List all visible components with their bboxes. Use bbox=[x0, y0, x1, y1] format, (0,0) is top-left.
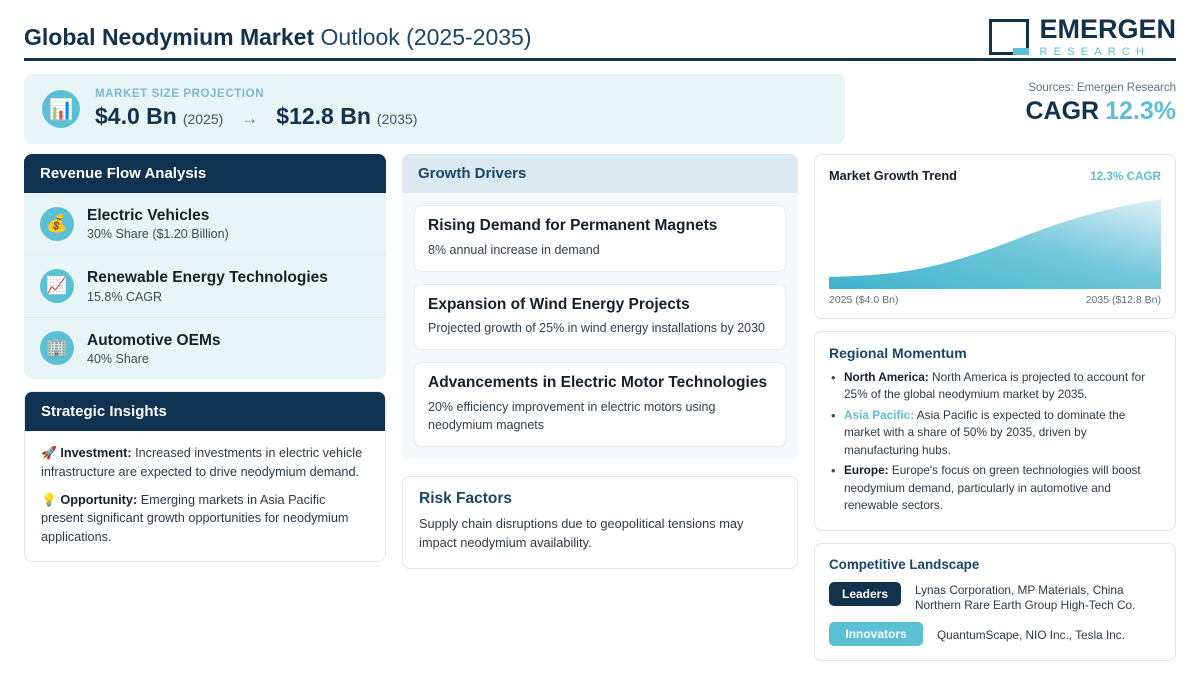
chart-title: Market Growth Trend bbox=[829, 168, 957, 183]
area-series-path bbox=[829, 199, 1161, 289]
growth-area-chart bbox=[829, 193, 1161, 289]
list-item-title: Renewable Energy Technologies bbox=[87, 268, 328, 287]
light-bulb-icon: 💡 bbox=[41, 493, 57, 507]
emergen-research-logo: EMERGEN RESEARCH bbox=[989, 16, 1176, 58]
market-growth-trend-card: Market Growth Trend 12.3% CAGR 202 bbox=[814, 154, 1176, 319]
list-item-title: Electric Vehicles bbox=[87, 206, 229, 225]
region-name: Asia Pacific: bbox=[844, 408, 914, 422]
list-item-meta: 40% Share bbox=[87, 352, 220, 366]
competitive-row-leaders: Leaders Lynas Corporation, MP Materials,… bbox=[829, 582, 1161, 614]
header-divider bbox=[24, 58, 1176, 61]
list-item-meta: 15.8% CAGR bbox=[87, 290, 328, 304]
strategic-insights-body: 🚀 Investment: Increased investments in e… bbox=[25, 431, 385, 561]
competitive-landscape-card: Competitive Landscape Leaders Lynas Corp… bbox=[814, 543, 1176, 662]
insight-investment: 🚀 Investment: Increased investments in e… bbox=[41, 444, 369, 481]
page-title-rest: Outlook (2025-2035) bbox=[314, 24, 531, 50]
insight-opportunity: 💡 Opportunity: Emerging markets in Asia … bbox=[41, 491, 369, 546]
market-size-end: $12.8 Bn bbox=[276, 103, 371, 130]
revenue-flow-panel: Revenue Flow Analysis 💰 Electric Vehicle… bbox=[24, 154, 386, 379]
region-name: North America: bbox=[844, 370, 929, 384]
list-item[interactable]: 🏢 Automotive OEMs 40% Share bbox=[24, 318, 386, 379]
growth-drivers-title: Growth Drivers bbox=[402, 154, 798, 193]
competitor-names: QuantumScape, NIO Inc., Tesla Inc. bbox=[937, 622, 1125, 643]
logo-square-icon bbox=[989, 19, 1029, 55]
insight-label: Opportunity: bbox=[60, 493, 137, 507]
cagr-value: 12.3% bbox=[1105, 97, 1176, 125]
cagr-label: CAGR bbox=[1026, 97, 1100, 125]
status-badge: Leaders bbox=[829, 582, 901, 606]
list-item: North America: North America is projecte… bbox=[829, 369, 1161, 404]
arrow-right-icon: → bbox=[241, 109, 258, 129]
chart-increasing-icon: 📈 bbox=[40, 269, 74, 303]
money-bag-icon: 💰 bbox=[40, 207, 74, 241]
list-item-body: Electric Vehicles 30% Share ($1.20 Billi… bbox=[87, 206, 229, 241]
driver-card-desc: Projected growth of 25% in wind energy i… bbox=[428, 319, 772, 337]
growth-drivers-panel: Growth Drivers Rising Demand for Permane… bbox=[402, 154, 798, 459]
risk-factors-panel: Risk Factors Supply chain disruptions du… bbox=[402, 476, 798, 569]
cagr-block: Sources: Emergen Research CAGR12.3% bbox=[846, 82, 1176, 126]
page-title: Global Neodymium Market Outlook (2025-20… bbox=[24, 24, 531, 51]
region-name: Europe: bbox=[844, 463, 889, 477]
right-column: Market Growth Trend 12.3% CAGR 202 bbox=[814, 154, 1176, 661]
list-item: Asia Pacific: Asia Pacific is expected t… bbox=[829, 407, 1161, 459]
driver-card-desc: 20% efficiency improvement in electric m… bbox=[428, 398, 772, 434]
market-size-start-year: (2025) bbox=[183, 111, 223, 127]
regional-momentum-card: Regional Momentum North America: North A… bbox=[814, 331, 1176, 531]
chart-annotation: 12.3% CAGR bbox=[1090, 170, 1161, 183]
chart-end-label: 2035 ($12.8 Bn) bbox=[1086, 294, 1161, 306]
revenue-flow-list: 💰 Electric Vehicles 30% Share ($1.20 Bil… bbox=[24, 193, 386, 379]
revenue-flow-title: Revenue Flow Analysis bbox=[24, 154, 386, 193]
page-header: Global Neodymium Market Outlook (2025-20… bbox=[24, 16, 1176, 58]
logo-subtitle: RESEARCH bbox=[1039, 47, 1176, 58]
market-size-start: $4.0 Bn bbox=[95, 103, 177, 130]
page-title-strong: Global Neodymium Market bbox=[24, 24, 314, 50]
list-item-title: Automotive OEMs bbox=[87, 331, 220, 350]
competitive-landscape-title: Competitive Landscape bbox=[829, 557, 1161, 572]
office-building-icon: 🏢 bbox=[40, 331, 74, 365]
infographic-page: Global Neodymium Market Outlook (2025-20… bbox=[0, 0, 1200, 700]
bar-chart-icon: 📊 bbox=[42, 90, 80, 128]
banner-label: MARKET SIZE PROJECTION bbox=[95, 88, 417, 100]
sources-note: Sources: Emergen Research bbox=[846, 82, 1176, 94]
risk-factors-desc: Supply chain disruptions due to geopolit… bbox=[419, 515, 781, 552]
driver-card-title: Advancements in Electric Motor Technolog… bbox=[428, 374, 772, 393]
list-item[interactable]: 📈 Renewable Energy Technologies 15.8% CA… bbox=[24, 255, 386, 317]
banner-copy: MARKET SIZE PROJECTION $4.0 Bn (2025) → … bbox=[95, 88, 417, 130]
list-item-body: Renewable Energy Technologies 15.8% CAGR bbox=[87, 268, 328, 303]
market-size-end-year: (2035) bbox=[377, 111, 417, 127]
area-chart-svg bbox=[829, 193, 1161, 289]
banner-figures: $4.0 Bn (2025) → $12.8 Bn (2035) bbox=[95, 103, 417, 130]
strategic-insights-panel: Strategic Insights 🚀 Investment: Increas… bbox=[24, 391, 386, 562]
status-badge: Innovators bbox=[829, 622, 923, 646]
regional-momentum-list: North America: North America is projecte… bbox=[829, 369, 1161, 515]
driver-card[interactable]: Advancements in Electric Motor Technolog… bbox=[414, 362, 786, 447]
logo-name: EMERGEN bbox=[1039, 16, 1176, 43]
middle-column: Growth Drivers Rising Demand for Permane… bbox=[402, 154, 798, 569]
chart-start-label: 2025 ($4.0 Bn) bbox=[829, 294, 898, 306]
cagr-line: CAGR12.3% bbox=[846, 97, 1176, 126]
logo-wordmark: EMERGEN RESEARCH bbox=[1039, 16, 1176, 58]
regional-momentum-title: Regional Momentum bbox=[829, 345, 1161, 361]
risk-factors-title: Risk Factors bbox=[419, 490, 781, 508]
driver-card-title: Expansion of Wind Energy Projects bbox=[428, 296, 772, 315]
list-item[interactable]: 💰 Electric Vehicles 30% Share ($1.20 Bil… bbox=[24, 193, 386, 255]
driver-card[interactable]: Expansion of Wind Energy Projects Projec… bbox=[414, 284, 786, 351]
strategic-insights-title: Strategic Insights bbox=[25, 392, 385, 431]
list-item: Europe: Europe's focus on green technolo… bbox=[829, 462, 1161, 514]
market-size-banner: 📊 MARKET SIZE PROJECTION $4.0 Bn (2025) … bbox=[24, 74, 845, 144]
list-item-meta: 30% Share ($1.20 Billion) bbox=[87, 227, 229, 241]
driver-card-desc: 8% annual increase in demand bbox=[428, 241, 772, 259]
insight-label: Investment: bbox=[60, 446, 131, 460]
chart-header: Market Growth Trend 12.3% CAGR bbox=[829, 168, 1161, 183]
chart-axis-labels: 2025 ($4.0 Bn) 2035 ($12.8 Bn) bbox=[829, 294, 1161, 306]
competitive-row-innovators: Innovators QuantumScape, NIO Inc., Tesla… bbox=[829, 622, 1161, 646]
left-column: Revenue Flow Analysis 💰 Electric Vehicle… bbox=[24, 154, 386, 562]
rocket-icon: 🚀 bbox=[41, 446, 57, 460]
list-item-body: Automotive OEMs 40% Share bbox=[87, 331, 220, 366]
driver-card-title: Rising Demand for Permanent Magnets bbox=[428, 217, 772, 236]
region-text: Europe's focus on green technologies wil… bbox=[844, 463, 1141, 512]
driver-card[interactable]: Rising Demand for Permanent Magnets 8% a… bbox=[414, 205, 786, 272]
competitor-names: Lynas Corporation, MP Materials, China N… bbox=[915, 582, 1161, 614]
